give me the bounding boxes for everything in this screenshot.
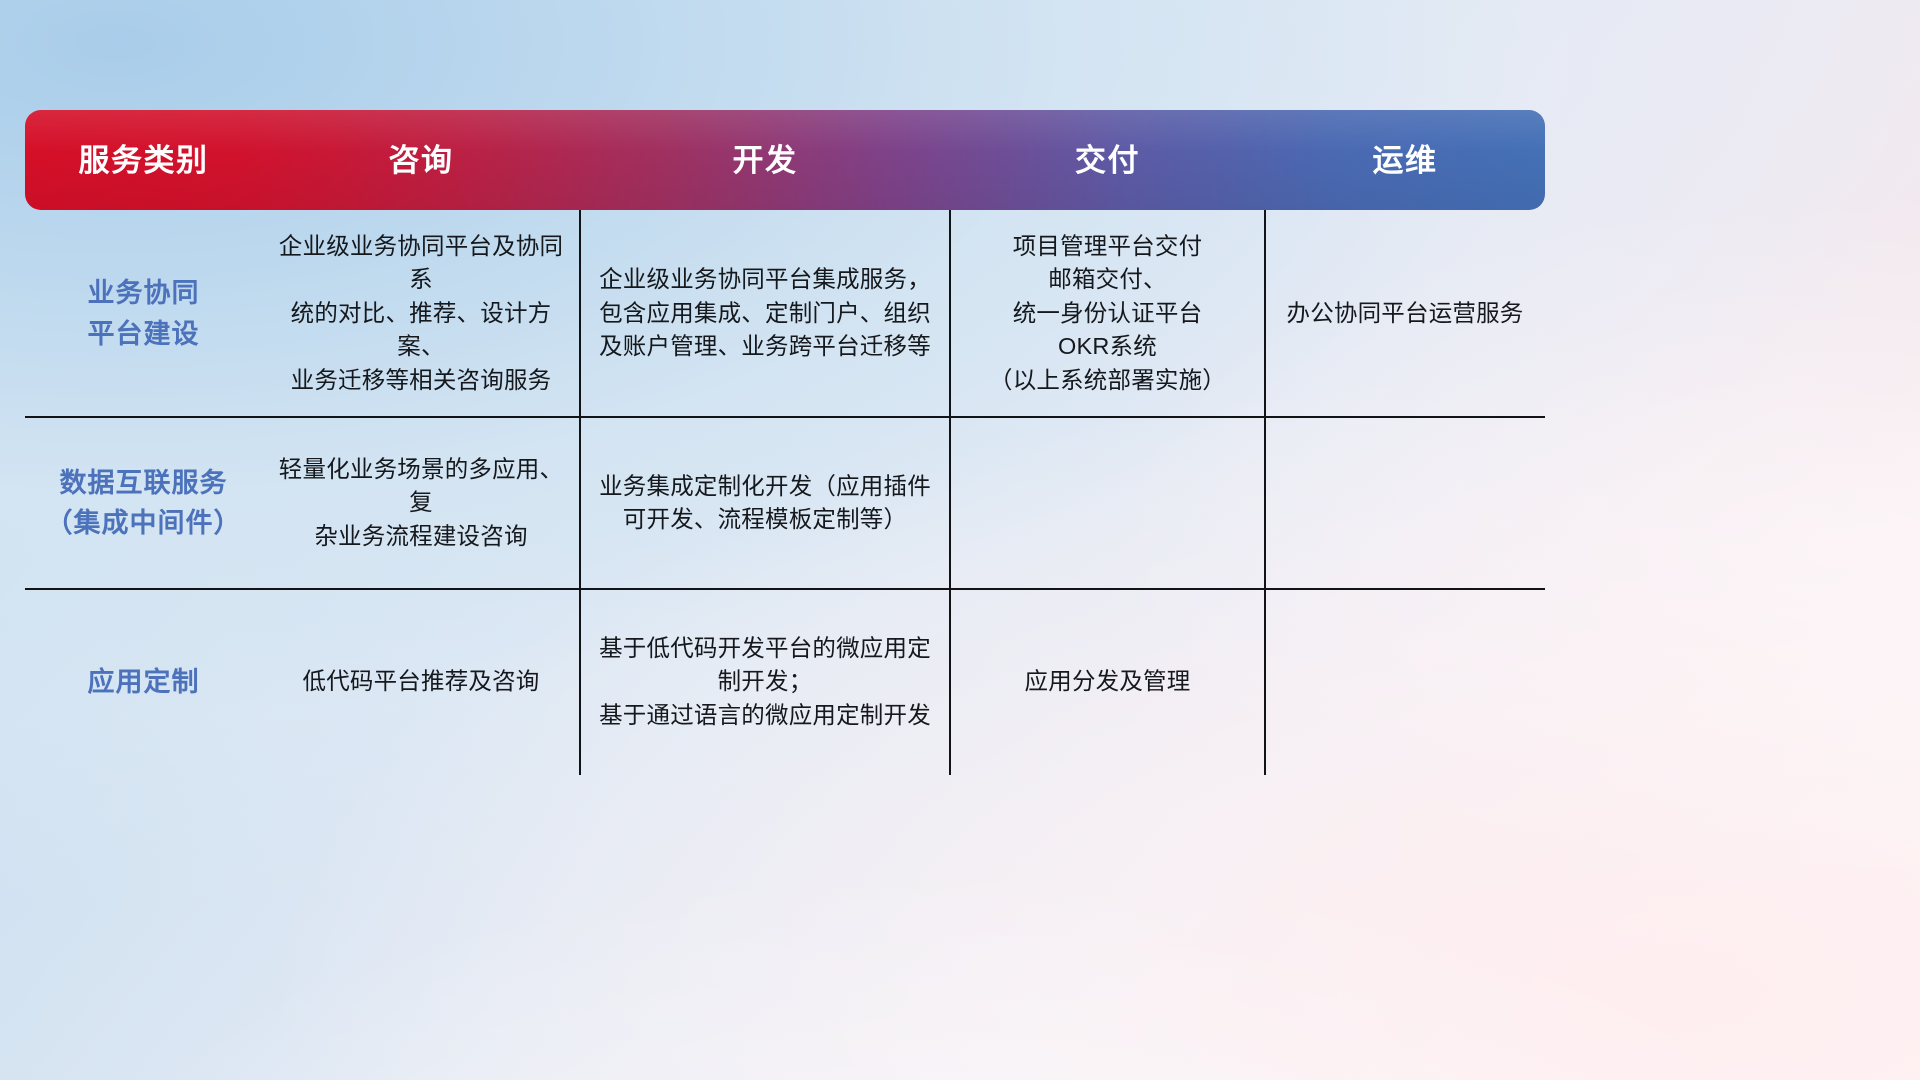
cell-consult-r1: 企业级业务协同平台及协同系 统的对比、推荐、设计方案、 业务迁移等相关咨询服务 xyxy=(262,210,580,417)
table-row: 应用定制 低代码平台推荐及咨询 基于低代码开发平台的微应用定 制开发； 基于通过… xyxy=(25,589,1545,775)
row-label-business-collaboration: 业务协同 平台建设 xyxy=(25,210,262,417)
cell-deliver-r2 xyxy=(950,417,1265,589)
row-label-data-integration: 数据互联服务 （集成中间件） xyxy=(25,417,262,589)
cell-operate-r1: 办公协同平台运营服务 xyxy=(1265,210,1545,417)
cell-deliver-r1: 项目管理平台交付 邮箱交付、 统一身份认证平台 OKR系统 （以上系统部署实施） xyxy=(950,210,1265,417)
cell-consult-r2: 轻量化业务场景的多应用、复 杂业务流程建设咨询 xyxy=(262,417,580,589)
column-header-category: 服务类别 xyxy=(25,145,262,176)
cell-develop-r3: 基于低代码开发平台的微应用定 制开发； 基于通过语言的微应用定制开发 xyxy=(580,589,950,775)
cell-develop-r2: 业务集成定制化开发（应用插件 可开发、流程模板定制等） xyxy=(580,417,950,589)
table-body: 业务协同 平台建设 企业级业务协同平台及协同系 统的对比、推荐、设计方案、 业务… xyxy=(25,210,1545,775)
cell-operate-r2 xyxy=(1265,417,1545,589)
table-row: 业务协同 平台建设 企业级业务协同平台及协同系 统的对比、推荐、设计方案、 业务… xyxy=(25,210,1545,417)
cell-operate-r3 xyxy=(1265,589,1545,775)
row-label-app-customization: 应用定制 xyxy=(25,589,262,775)
slide-canvas: 服务类别 咨询 开发 交付 运维 业务协同 平台建设 企业级业务协同平台及协同系… xyxy=(0,0,1920,1080)
table-header-row: 服务类别 咨询 开发 交付 运维 xyxy=(25,110,1545,210)
service-matrix-table: 服务类别 咨询 开发 交付 运维 业务协同 平台建设 企业级业务协同平台及协同系… xyxy=(25,110,1545,775)
column-header-develop: 开发 xyxy=(580,145,950,176)
column-header-deliver: 交付 xyxy=(950,145,1265,176)
cell-consult-r3: 低代码平台推荐及咨询 xyxy=(262,589,580,775)
table-row: 数据互联服务 （集成中间件） 轻量化业务场景的多应用、复 杂业务流程建设咨询 业… xyxy=(25,417,1545,589)
row-divider-2 xyxy=(25,588,1545,590)
row-divider-1 xyxy=(25,416,1545,418)
column-header-consult: 咨询 xyxy=(262,145,580,176)
cell-develop-r1: 企业级业务协同平台集成服务， 包含应用集成、定制门户、组织 及账户管理、业务跨平… xyxy=(580,210,950,417)
cell-deliver-r3: 应用分发及管理 xyxy=(950,589,1265,775)
column-header-operate: 运维 xyxy=(1265,145,1545,176)
